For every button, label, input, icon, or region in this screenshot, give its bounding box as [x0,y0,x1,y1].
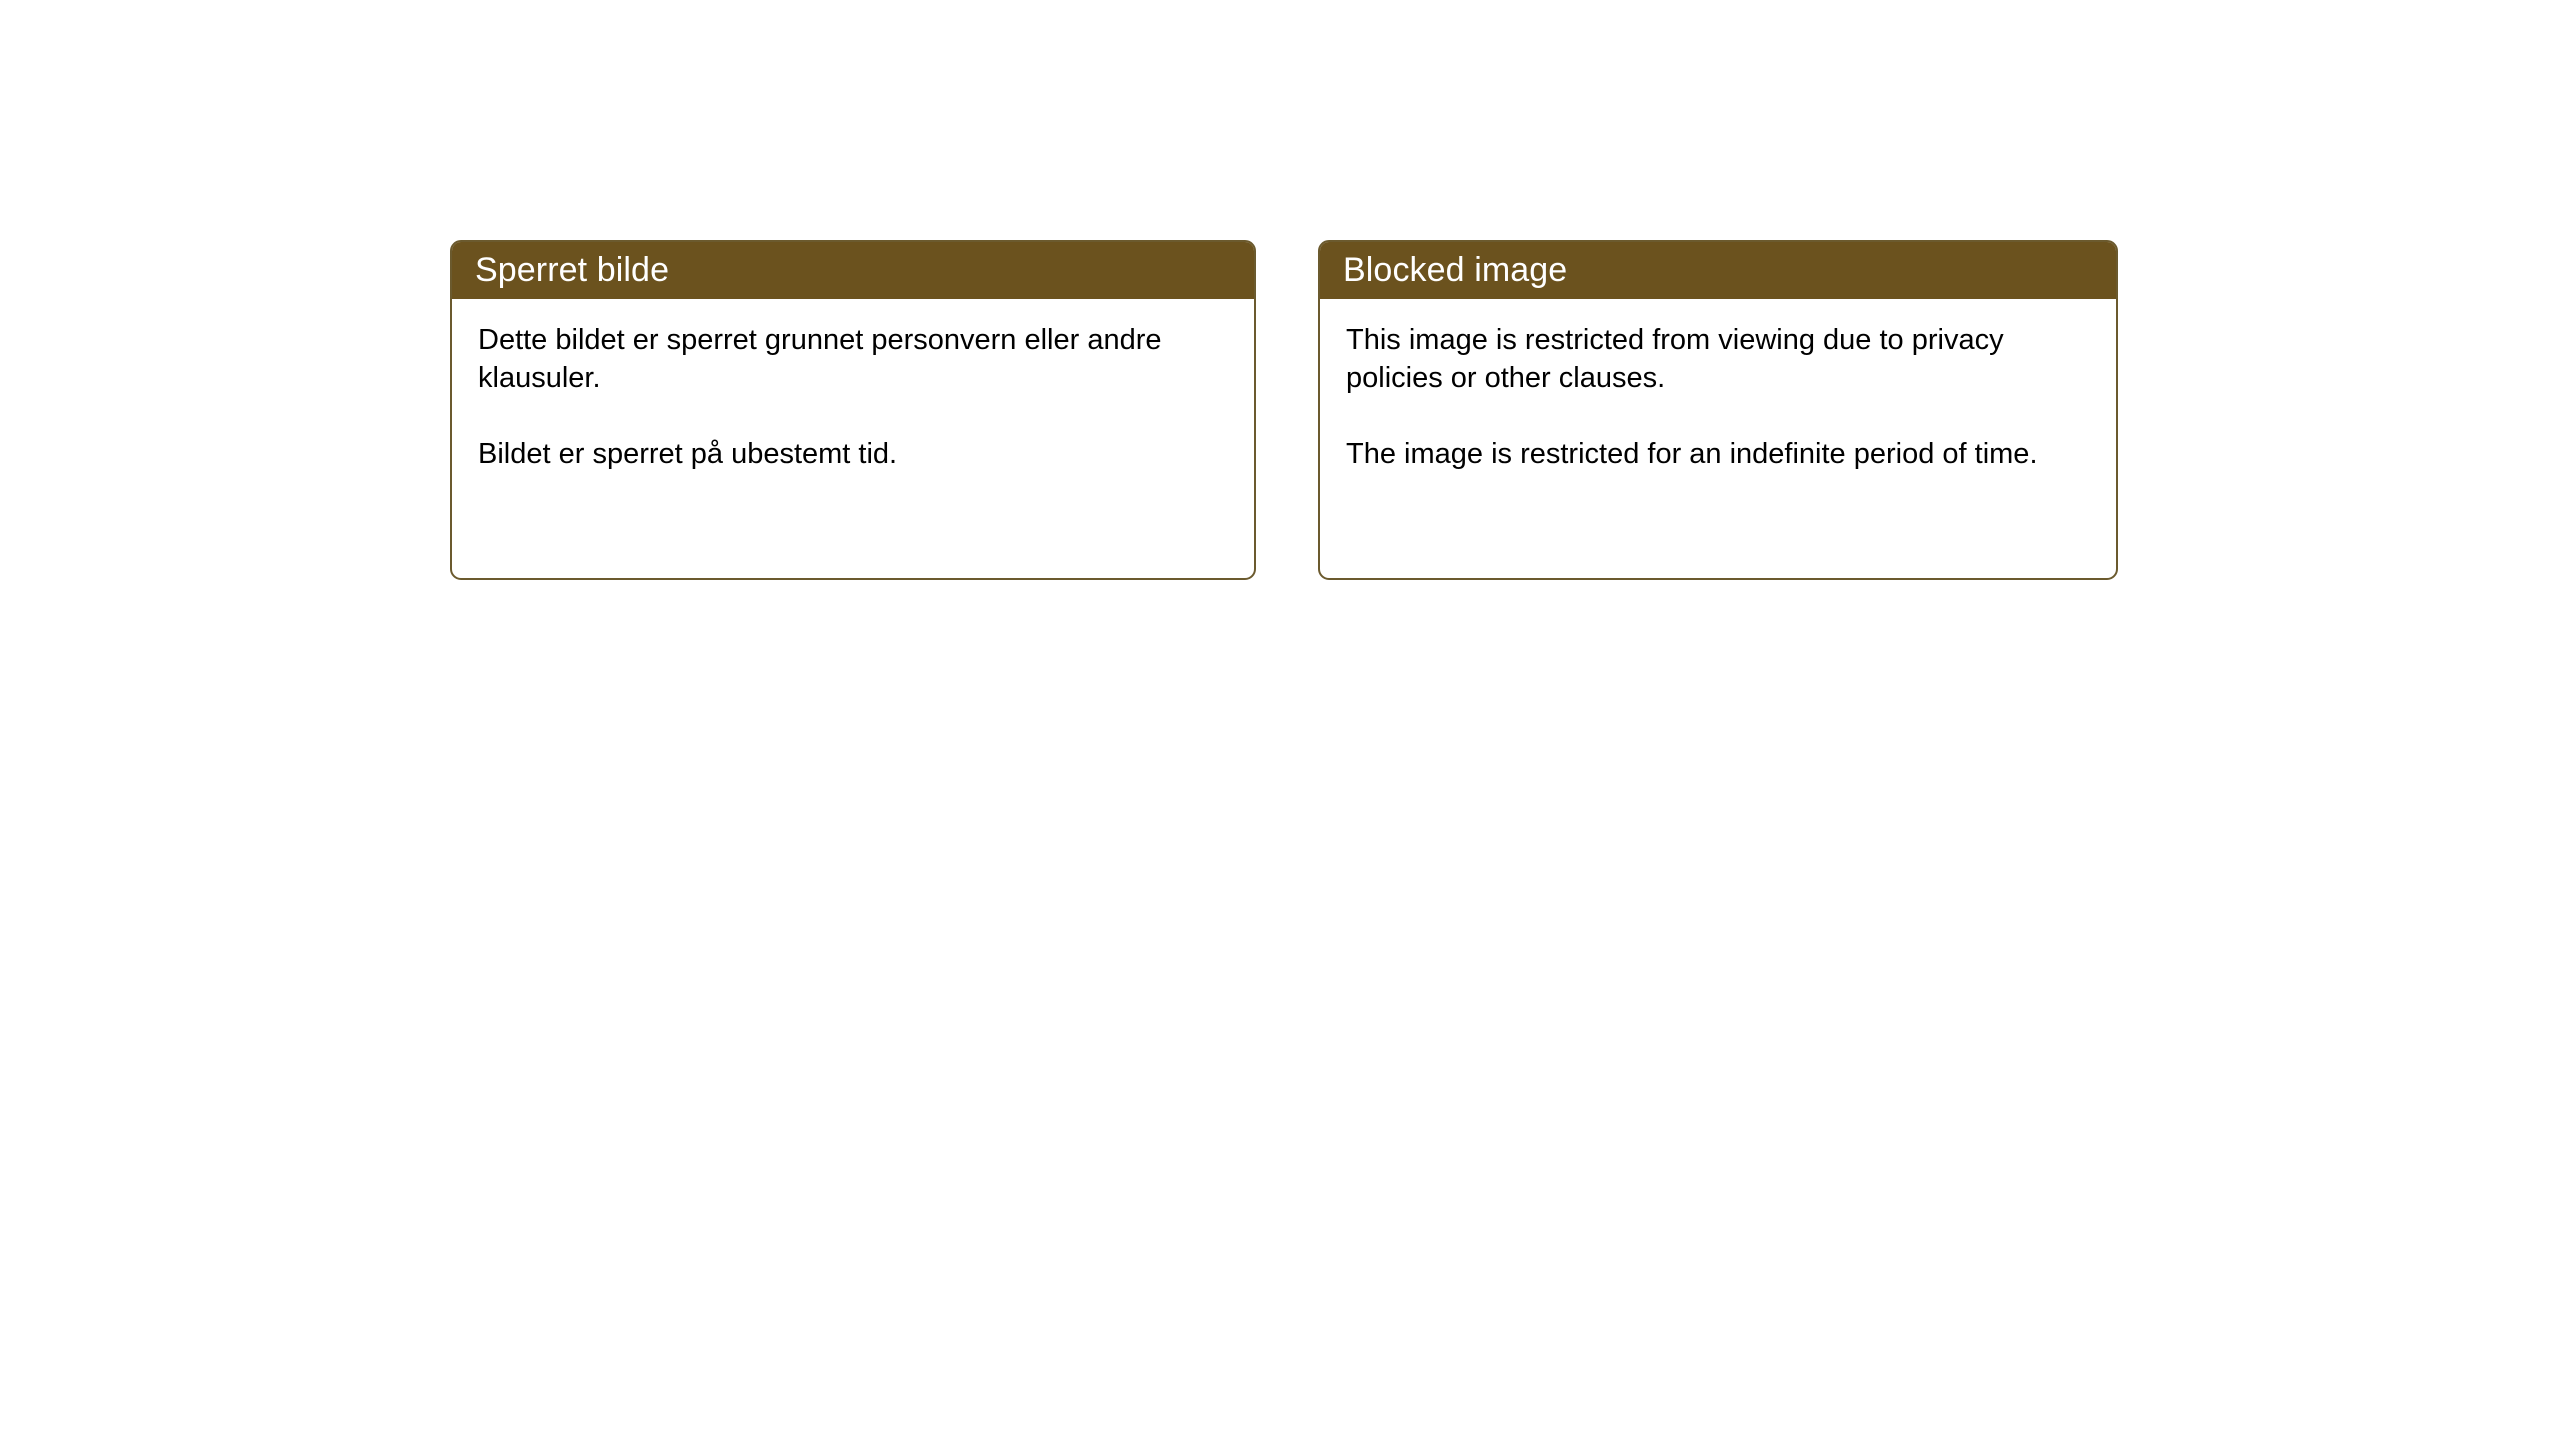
card-paragraph-reason-english: This image is restricted from viewing du… [1346,321,2090,397]
page-canvas: Sperret bilde Dette bildet er sperret gr… [0,0,2560,1440]
blocked-image-notice-english: Blocked image This image is restricted f… [1318,240,2118,580]
card-title-norwegian: Sperret bilde [475,253,669,287]
card-body-norwegian: Dette bildet er sperret grunnet personve… [452,299,1254,473]
card-header-english: Blocked image [1319,241,2117,299]
card-paragraph-duration-english: The image is restricted for an indefinit… [1346,435,2090,473]
blocked-image-notice-norwegian: Sperret bilde Dette bildet er sperret gr… [450,240,1256,580]
card-paragraph-reason-norwegian: Dette bildet er sperret grunnet personve… [478,321,1228,397]
card-title-english: Blocked image [1343,253,1567,287]
card-body-english: This image is restricted from viewing du… [1320,299,2116,473]
card-paragraph-duration-norwegian: Bildet er sperret på ubestemt tid. [478,435,1228,473]
card-header-norwegian: Sperret bilde [451,241,1255,299]
